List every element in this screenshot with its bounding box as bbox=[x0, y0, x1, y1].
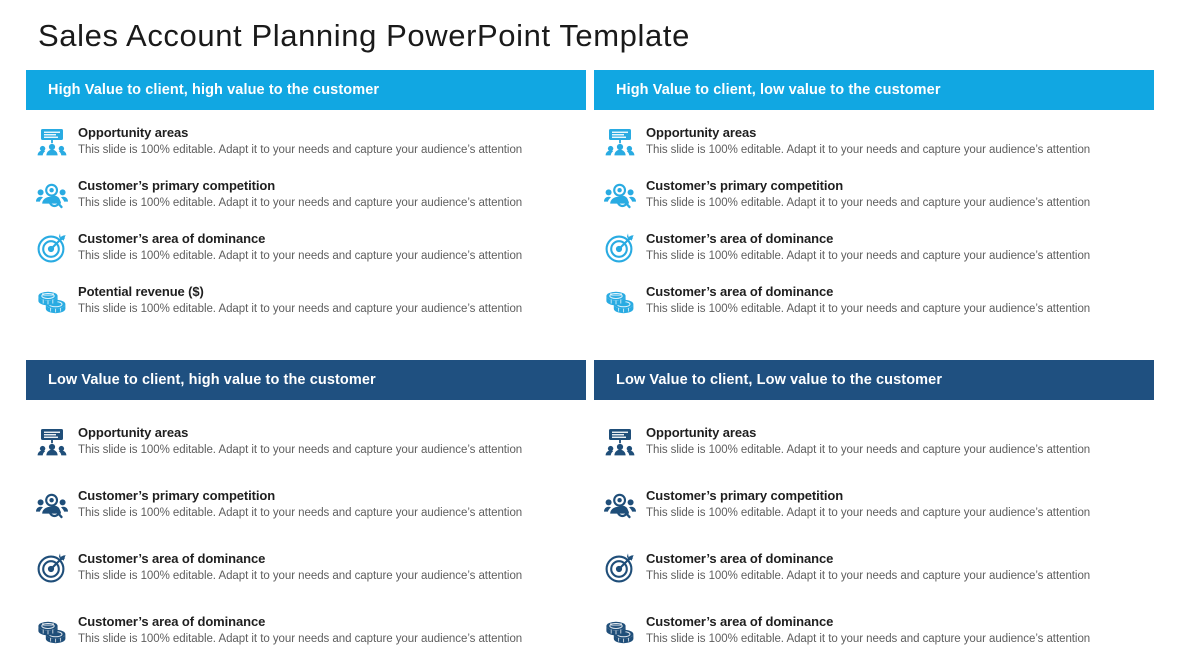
item-title: Opportunity areas bbox=[78, 124, 586, 141]
item-description: This slide is 100% editable. Adapt it to… bbox=[78, 301, 586, 317]
item-text-block: Customer’s area of dominanceThis slide i… bbox=[642, 613, 1154, 647]
page-title: Sales Account Planning PowerPoint Templa… bbox=[38, 16, 690, 56]
competitor-search-icon bbox=[598, 178, 642, 212]
item-text-block: Customer’s area of dominanceThis slide i… bbox=[642, 550, 1154, 584]
quadrant-low-client-high-customer: Low Value to client, high value to the c… bbox=[26, 360, 586, 648]
item-title: Customer’s primary competition bbox=[646, 177, 1154, 194]
list-item: Customer’s area of dominanceThis slide i… bbox=[30, 550, 586, 585]
item-title: Customer’s area of dominance bbox=[646, 230, 1154, 247]
item-text-block: Customer’s primary competitionThis slide… bbox=[642, 487, 1154, 521]
item-text-block: Opportunity areasThis slide is 100% edit… bbox=[642, 424, 1154, 458]
coins-stack-icon bbox=[598, 284, 642, 318]
quadrant-header-low-client-high-customer: Low Value to client, high value to the c… bbox=[26, 360, 586, 400]
quadrant-header-low-client-low-customer: Low Value to client, Low value to the cu… bbox=[594, 360, 1154, 400]
item-text-block: Opportunity areasThis slide is 100% edit… bbox=[74, 124, 586, 158]
list-item: Customer’s area of dominanceThis slide i… bbox=[598, 230, 1154, 265]
item-description: This slide is 100% editable. Adapt it to… bbox=[78, 248, 586, 264]
presentation-audience-icon bbox=[598, 125, 642, 159]
item-description: This slide is 100% editable. Adapt it to… bbox=[78, 442, 586, 458]
list-item: Customer’s primary competitionThis slide… bbox=[30, 487, 586, 522]
presentation-audience-icon bbox=[30, 425, 74, 459]
item-text-block: Potential revenue ($)This slide is 100% … bbox=[74, 283, 586, 317]
item-title: Customer’s primary competition bbox=[646, 487, 1154, 504]
item-description: This slide is 100% editable. Adapt it to… bbox=[646, 248, 1154, 264]
item-title: Customer’s area of dominance bbox=[646, 283, 1154, 300]
item-text-block: Opportunity areasThis slide is 100% edit… bbox=[642, 124, 1154, 158]
item-description: This slide is 100% editable. Adapt it to… bbox=[646, 301, 1154, 317]
quadrant-high-client-high-customer: High Value to client, high value to the … bbox=[26, 70, 586, 360]
item-description: This slide is 100% editable. Adapt it to… bbox=[646, 568, 1154, 584]
list-item: Customer’s area of dominanceThis slide i… bbox=[598, 283, 1154, 318]
item-text-block: Customer’s area of dominanceThis slide i… bbox=[642, 230, 1154, 264]
item-description: This slide is 100% editable. Adapt it to… bbox=[646, 195, 1154, 211]
quadrant-header-high-client-high-customer: High Value to client, high value to the … bbox=[26, 70, 586, 110]
item-title: Opportunity areas bbox=[646, 424, 1154, 441]
list-item: Potential revenue ($)This slide is 100% … bbox=[30, 283, 586, 318]
target-dart-icon bbox=[598, 231, 642, 265]
target-dart-icon bbox=[30, 551, 74, 585]
item-text-block: Customer’s area of dominanceThis slide i… bbox=[642, 283, 1154, 317]
quadrant-low-client-low-customer: Low Value to client, Low value to the cu… bbox=[594, 360, 1154, 648]
presentation-audience-icon bbox=[30, 125, 74, 159]
target-dart-icon bbox=[598, 551, 642, 585]
item-title: Customer’s primary competition bbox=[78, 177, 586, 194]
list-item: Customer’s area of dominanceThis slide i… bbox=[598, 613, 1154, 648]
item-text-block: Customer’s area of dominanceThis slide i… bbox=[74, 613, 586, 647]
item-text-block: Customer’s area of dominanceThis slide i… bbox=[74, 550, 586, 584]
item-description: This slide is 100% editable. Adapt it to… bbox=[646, 442, 1154, 458]
quadrant-grid: High Value to client, high value to the … bbox=[26, 70, 1154, 648]
item-text-block: Customer’s area of dominanceThis slide i… bbox=[74, 230, 586, 264]
coins-stack-icon bbox=[30, 614, 74, 648]
item-title: Customer’s area of dominance bbox=[78, 550, 586, 567]
quadrant-high-client-low-customer: High Value to client, low value to the c… bbox=[594, 70, 1154, 360]
list-item: Opportunity areasThis slide is 100% edit… bbox=[598, 124, 1154, 159]
item-description: This slide is 100% editable. Adapt it to… bbox=[78, 142, 586, 158]
competitor-search-icon bbox=[30, 488, 74, 522]
item-description: This slide is 100% editable. Adapt it to… bbox=[646, 505, 1154, 521]
item-title: Opportunity areas bbox=[78, 424, 586, 441]
item-text-block: Customer’s primary competitionThis slide… bbox=[74, 177, 586, 211]
list-item: Customer’s area of dominanceThis slide i… bbox=[598, 550, 1154, 585]
item-description: This slide is 100% editable. Adapt it to… bbox=[646, 142, 1154, 158]
item-title: Customer’s primary competition bbox=[78, 487, 586, 504]
item-description: This slide is 100% editable. Adapt it to… bbox=[78, 568, 586, 584]
quadrant-item-list: Opportunity areasThis slide is 100% edit… bbox=[594, 110, 1154, 318]
item-title: Customer’s area of dominance bbox=[646, 613, 1154, 630]
list-item: Customer’s primary competitionThis slide… bbox=[598, 177, 1154, 212]
item-title: Customer’s area of dominance bbox=[646, 550, 1154, 567]
list-item: Customer’s area of dominanceThis slide i… bbox=[30, 230, 586, 265]
item-title: Customer’s area of dominance bbox=[78, 613, 586, 630]
coins-stack-icon bbox=[30, 284, 74, 318]
list-item: Customer’s primary competitionThis slide… bbox=[30, 177, 586, 212]
item-description: This slide is 100% editable. Adapt it to… bbox=[78, 195, 586, 211]
item-text-block: Opportunity areasThis slide is 100% edit… bbox=[74, 424, 586, 458]
quadrant-item-list: Opportunity areasThis slide is 100% edit… bbox=[26, 110, 586, 318]
item-title: Potential revenue ($) bbox=[78, 283, 586, 300]
list-item: Opportunity areasThis slide is 100% edit… bbox=[30, 424, 586, 459]
quadrant-item-list: Opportunity areasThis slide is 100% edit… bbox=[26, 400, 586, 648]
coins-stack-icon bbox=[598, 614, 642, 648]
presentation-audience-icon bbox=[598, 425, 642, 459]
competitor-search-icon bbox=[30, 178, 74, 212]
list-item: Customer’s primary competitionThis slide… bbox=[598, 487, 1154, 522]
target-dart-icon bbox=[30, 231, 74, 265]
list-item: Customer’s area of dominanceThis slide i… bbox=[30, 613, 586, 648]
item-description: This slide is 100% editable. Adapt it to… bbox=[646, 631, 1154, 647]
quadrant-header-high-client-low-customer: High Value to client, low value to the c… bbox=[594, 70, 1154, 110]
list-item: Opportunity areasThis slide is 100% edit… bbox=[598, 424, 1154, 459]
quadrant-item-list: Opportunity areasThis slide is 100% edit… bbox=[594, 400, 1154, 648]
item-text-block: Customer’s primary competitionThis slide… bbox=[74, 487, 586, 521]
list-item: Opportunity areasThis slide is 100% edit… bbox=[30, 124, 586, 159]
item-title: Customer’s area of dominance bbox=[78, 230, 586, 247]
item-text-block: Customer’s primary competitionThis slide… bbox=[642, 177, 1154, 211]
item-title: Opportunity areas bbox=[646, 124, 1154, 141]
slide-canvas: Sales Account Planning PowerPoint Templa… bbox=[0, 0, 1180, 664]
item-description: This slide is 100% editable. Adapt it to… bbox=[78, 631, 586, 647]
competitor-search-icon bbox=[598, 488, 642, 522]
item-description: This slide is 100% editable. Adapt it to… bbox=[78, 505, 586, 521]
